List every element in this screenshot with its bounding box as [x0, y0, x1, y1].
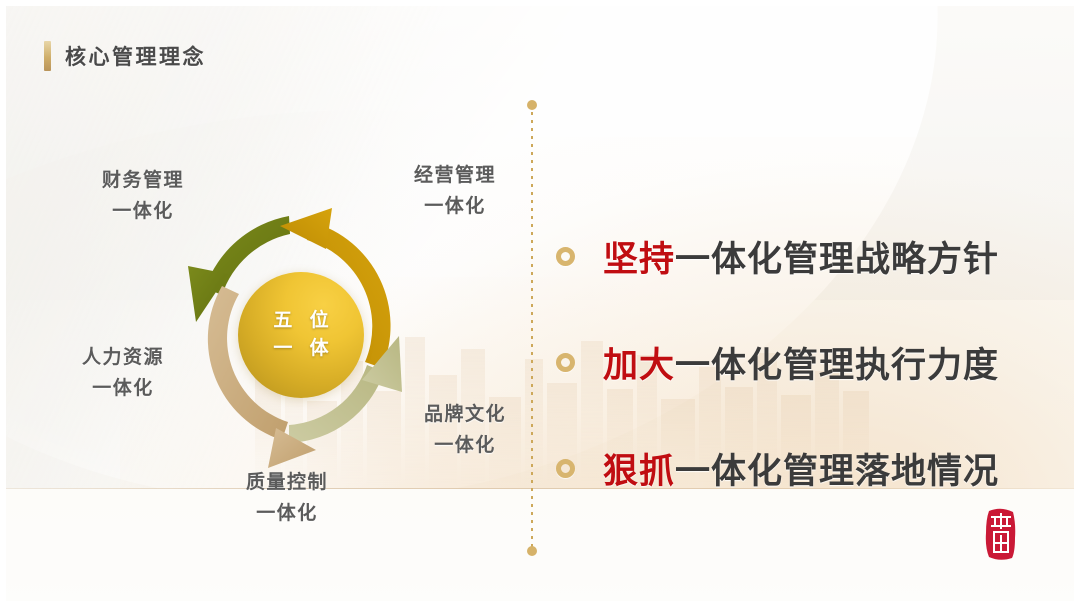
ring-bullet-icon	[556, 247, 575, 266]
title-text: 核心管理理念	[65, 41, 206, 71]
key-points-list: 坚持一体化管理战略方针 加大一体化管理执行力度 狠抓一体化管理落地情况	[556, 226, 1056, 498]
node-hr-line2: 一体化	[58, 374, 188, 405]
divider-dot-bottom-icon	[527, 546, 537, 556]
bullet-rest-1: 一体化管理战略方针	[675, 240, 999, 279]
node-finance-line1: 财务管理	[102, 170, 184, 191]
bullet-text-3: 狠抓一体化管理落地情况	[603, 443, 999, 494]
node-operations-line2: 一体化	[390, 192, 520, 223]
bullet-emphasis-1: 坚持	[603, 240, 675, 279]
list-item[interactable]: 加大一体化管理执行力度	[556, 332, 1056, 392]
diagram-node-hr: 人力资源 一体化	[58, 343, 188, 405]
node-brand-line1: 品牌文化	[424, 404, 506, 425]
slide-canvas: 核心管理理念	[0, 0, 1080, 607]
title-accent-bar	[44, 41, 51, 71]
bullet-rest-3: 一体化管理落地情况	[675, 452, 999, 491]
list-item[interactable]: 坚持一体化管理战略方针	[556, 226, 1056, 286]
ring-bullet-icon	[556, 353, 575, 372]
node-operations-line1: 经营管理	[414, 165, 496, 186]
red-seal-stamp	[981, 505, 1021, 563]
ring-bullet-icon	[556, 459, 575, 478]
node-quality-line2: 一体化	[222, 499, 352, 530]
node-brand-line2: 一体化	[400, 431, 530, 462]
diagram-node-brand: 品牌文化 一体化	[400, 400, 530, 462]
cycle-diagram: 五 位 一 体	[176, 200, 426, 470]
node-finance-line2: 一体化	[78, 197, 208, 228]
bullet-text-2: 加大一体化管理执行力度	[603, 337, 999, 388]
center-line-1: 五 位	[267, 307, 334, 335]
divider-dot-top-icon	[527, 100, 537, 110]
diagram-node-quality: 质量控制 一体化	[222, 468, 352, 530]
node-hr-line1: 人力资源	[82, 347, 164, 368]
bullet-emphasis-3: 狠抓	[603, 452, 675, 491]
diagram-node-operations: 经营管理 一体化	[390, 161, 520, 223]
bullet-emphasis-2: 加大	[603, 346, 675, 385]
center-line-2: 一 体	[267, 335, 334, 363]
bullet-text-1: 坚持一体化管理战略方针	[603, 231, 999, 282]
list-item[interactable]: 狠抓一体化管理落地情况	[556, 438, 1056, 498]
page-title: 核心管理理念	[44, 41, 206, 71]
node-quality-line1: 质量控制	[246, 472, 328, 493]
cycle-center-circle: 五 位 一 体	[238, 272, 364, 398]
vertical-dotted-divider	[531, 104, 533, 552]
bullet-rest-2: 一体化管理执行力度	[675, 346, 999, 385]
diagram-node-finance: 财务管理 一体化	[78, 166, 208, 228]
background-lower-band	[0, 489, 1080, 607]
